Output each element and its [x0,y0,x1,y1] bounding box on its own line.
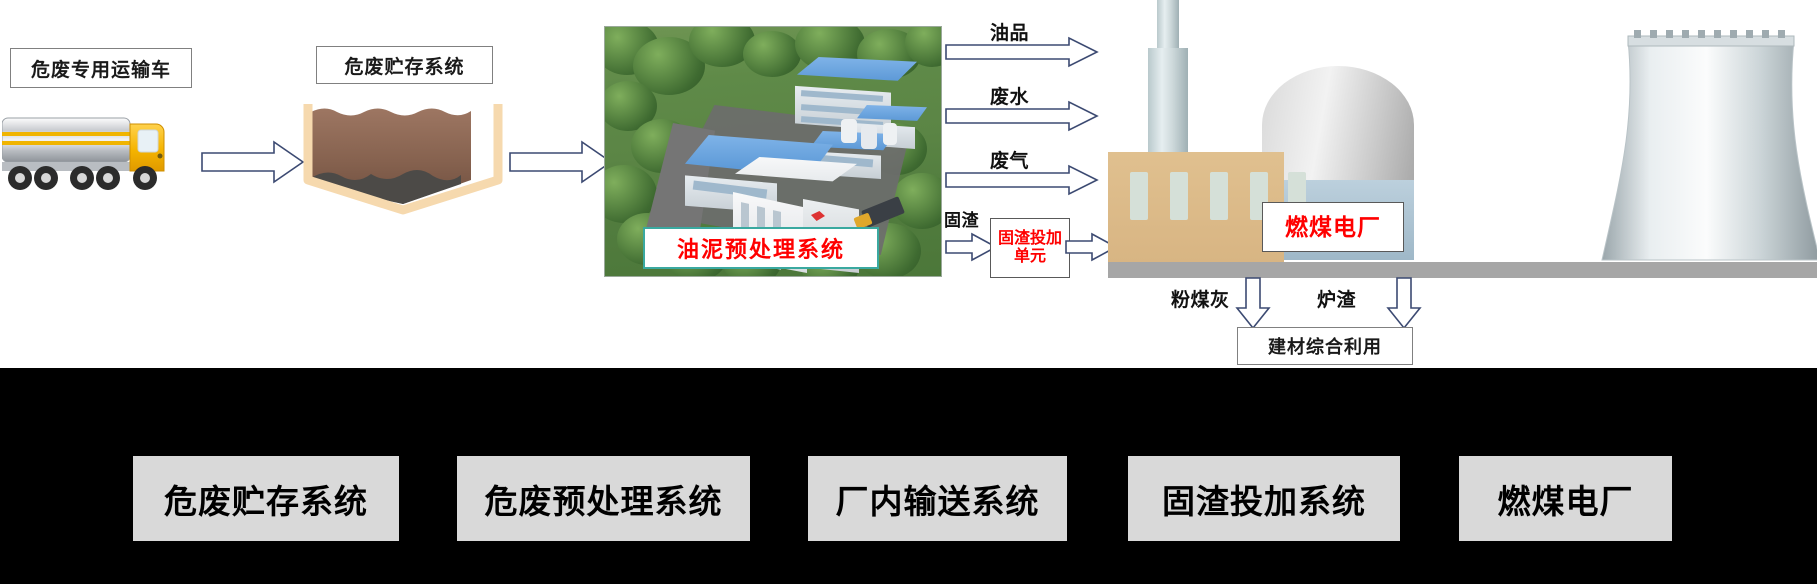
label-box-building-material-use: 建材综合利用 [1237,327,1413,365]
label-storage-system: 危废贮存系统 [344,52,464,79]
photo-caption-text: 油泥预处理系统 [677,232,845,264]
label-building-material-use: 建材综合利用 [1268,333,1382,359]
chip-hw-pretreatment-system[interactable]: 危废预处理系统 [457,456,750,541]
photo-caption-box: 油泥预处理系统 [643,227,879,269]
hazardous-waste-storage-tank-icon [300,100,506,218]
arrow-wastewater-output [944,100,1099,132]
byproduct-label-fly-ash: 粉煤灰 [1171,285,1230,312]
turbine-hall-window [1170,172,1188,220]
chip-in-plant-conveying[interactable]: 厂内输送系统 [808,456,1067,541]
chip-label-in-plant-conveying: 厂内输送系统 [836,475,1040,523]
tanker-truck-icon [2,110,192,202]
chip-slag-dosing-system[interactable]: 固渣投加系统 [1128,456,1400,541]
bottom-banner: 危废贮存系统 危废预处理系统 厂内输送系统 固渣投加系统 燃煤电厂 [0,368,1817,584]
byproduct-label-slag: 炉渣 [1317,285,1356,312]
label-box-transport-vehicle: 危废专用运输车 [10,48,192,88]
unit-label-coal-power-plant: 燃煤电厂 [1285,214,1381,240]
power-plant-ground [1108,262,1817,278]
turbine-hall-window [1210,172,1228,220]
unit-label-slag-dosing: 固渣投加单元 [995,230,1065,267]
unit-box-coal-power-plant: 燃煤电厂 [1262,202,1404,252]
chip-label-slag-dosing-system: 固渣投加系统 [1162,475,1366,523]
pretreatment-facility-photo: 油泥预处理系统 [604,26,942,277]
containment-dome [1262,66,1414,184]
arrow-truck-to-storage [200,140,305,184]
stream-label-solid-slag-text: 固渣 [944,211,979,230]
chip-hw-storage-system[interactable]: 危废贮存系统 [133,456,399,541]
byproduct-label-fly-ash-text: 粉煤灰 [1171,290,1230,311]
label-transport-vehicle: 危废专用运输车 [31,55,171,82]
byproduct-label-slag-text: 炉渣 [1317,290,1356,311]
chip-label-hw-pretreatment-system: 危废预处理系统 [485,475,723,523]
unit-box-slag-dosing: 固渣投加单元 [990,218,1070,278]
arrow-storage-to-pretreatment [508,140,613,184]
chip-coal-fired-power-plant[interactable]: 燃煤电厂 [1459,456,1672,541]
process-flow-diagram: 危废专用运输车 [0,0,1817,584]
chip-label-hw-storage-system: 危废贮存系统 [164,475,368,523]
turbine-hall-window [1130,172,1148,220]
arrow-wastegas-output [944,164,1099,196]
arrow-fly-ash-down [1235,276,1271,330]
stream-label-solid-slag: 固渣 [944,206,979,231]
cooling-tower [1600,30,1817,264]
arrow-oil-output [944,36,1099,68]
chip-label-coal-fired-power-plant: 燃煤电厂 [1498,475,1634,523]
arrow-slag-down [1386,276,1422,330]
label-box-storage-system: 危废贮存系统 [316,46,493,84]
